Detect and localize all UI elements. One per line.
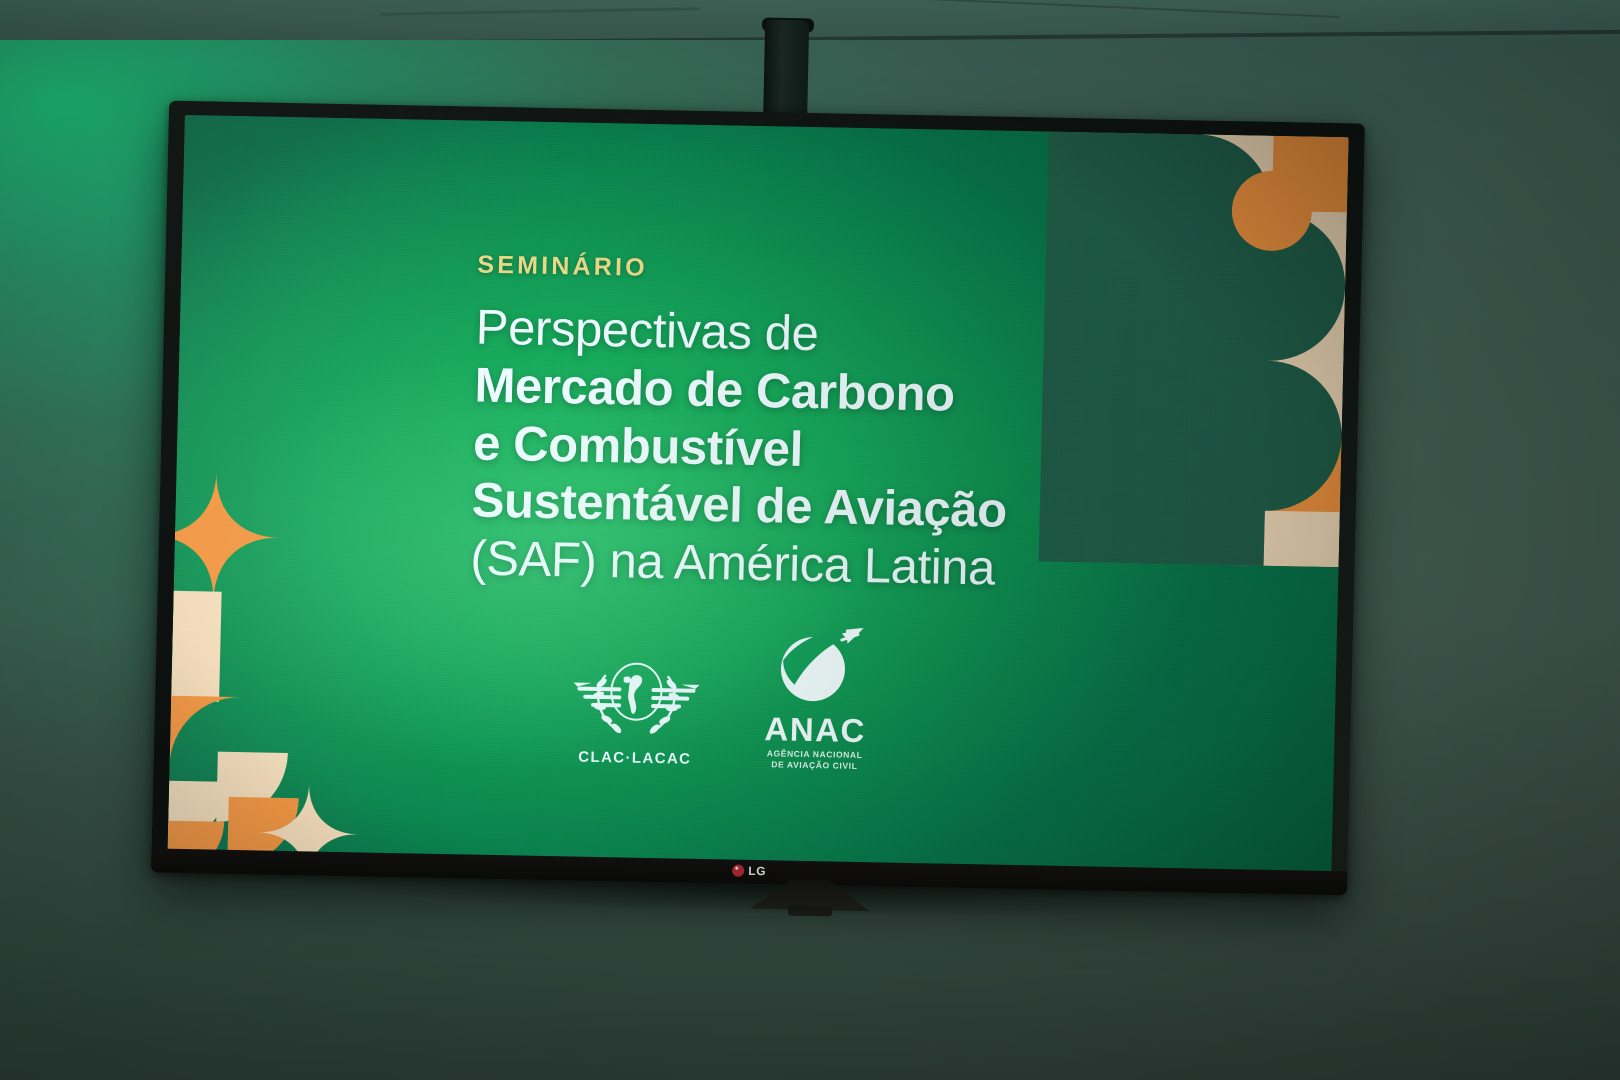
- tv-screen[interactable]: SEMINÁRIO Perspectivas de Mercado de Car…: [168, 115, 1349, 873]
- anac-subtitle-line-2: DE AVIAÇÃO CIVIL: [766, 759, 862, 771]
- lg-logo: LG: [732, 864, 766, 879]
- room-scene: SEMINÁRIO Perspectivas de Mercado de Car…: [0, 0, 1620, 1080]
- anac-logo: ANAC AGÊNCIA NACIONAL DE AVIAÇÃO CIVIL: [764, 626, 869, 771]
- title-line-5: (SAF) na América Latina: [470, 531, 1111, 601]
- tv-stand-base: [788, 906, 832, 917]
- ceiling-tile-seam-2: [380, 7, 700, 16]
- lg-wordmark: LG: [748, 864, 766, 878]
- ceiling-tile-seam: [880, 0, 1340, 18]
- lg-circle-icon: [732, 865, 744, 877]
- slide-title: Perspectivas de Mercado de Carbono e Com…: [470, 300, 1117, 601]
- television[interactable]: SEMINÁRIO Perspectivas de Mercado de Car…: [151, 101, 1365, 896]
- slide-text-block: SEMINÁRIO Perspectivas de Mercado de Car…: [470, 251, 1118, 601]
- sphere-with-airplane-icon: [770, 626, 864, 708]
- anac-subtitle: AGÊNCIA NACIONAL DE AVIAÇÃO CIVIL: [766, 748, 862, 771]
- clac-lacac-wordmark: CLAC·LACAC: [578, 749, 692, 768]
- clac-lacac-logo: CLAC·LACAC: [570, 657, 703, 768]
- slide-logo-row: CLAC·LACAC ANAC AGÊNCI: [570, 622, 869, 771]
- winged-globe-laurel-icon: [570, 657, 702, 747]
- anac-wordmark: ANAC: [764, 712, 866, 747]
- tv-bezel: SEMINÁRIO Perspectivas de Mercado de Car…: [151, 101, 1365, 896]
